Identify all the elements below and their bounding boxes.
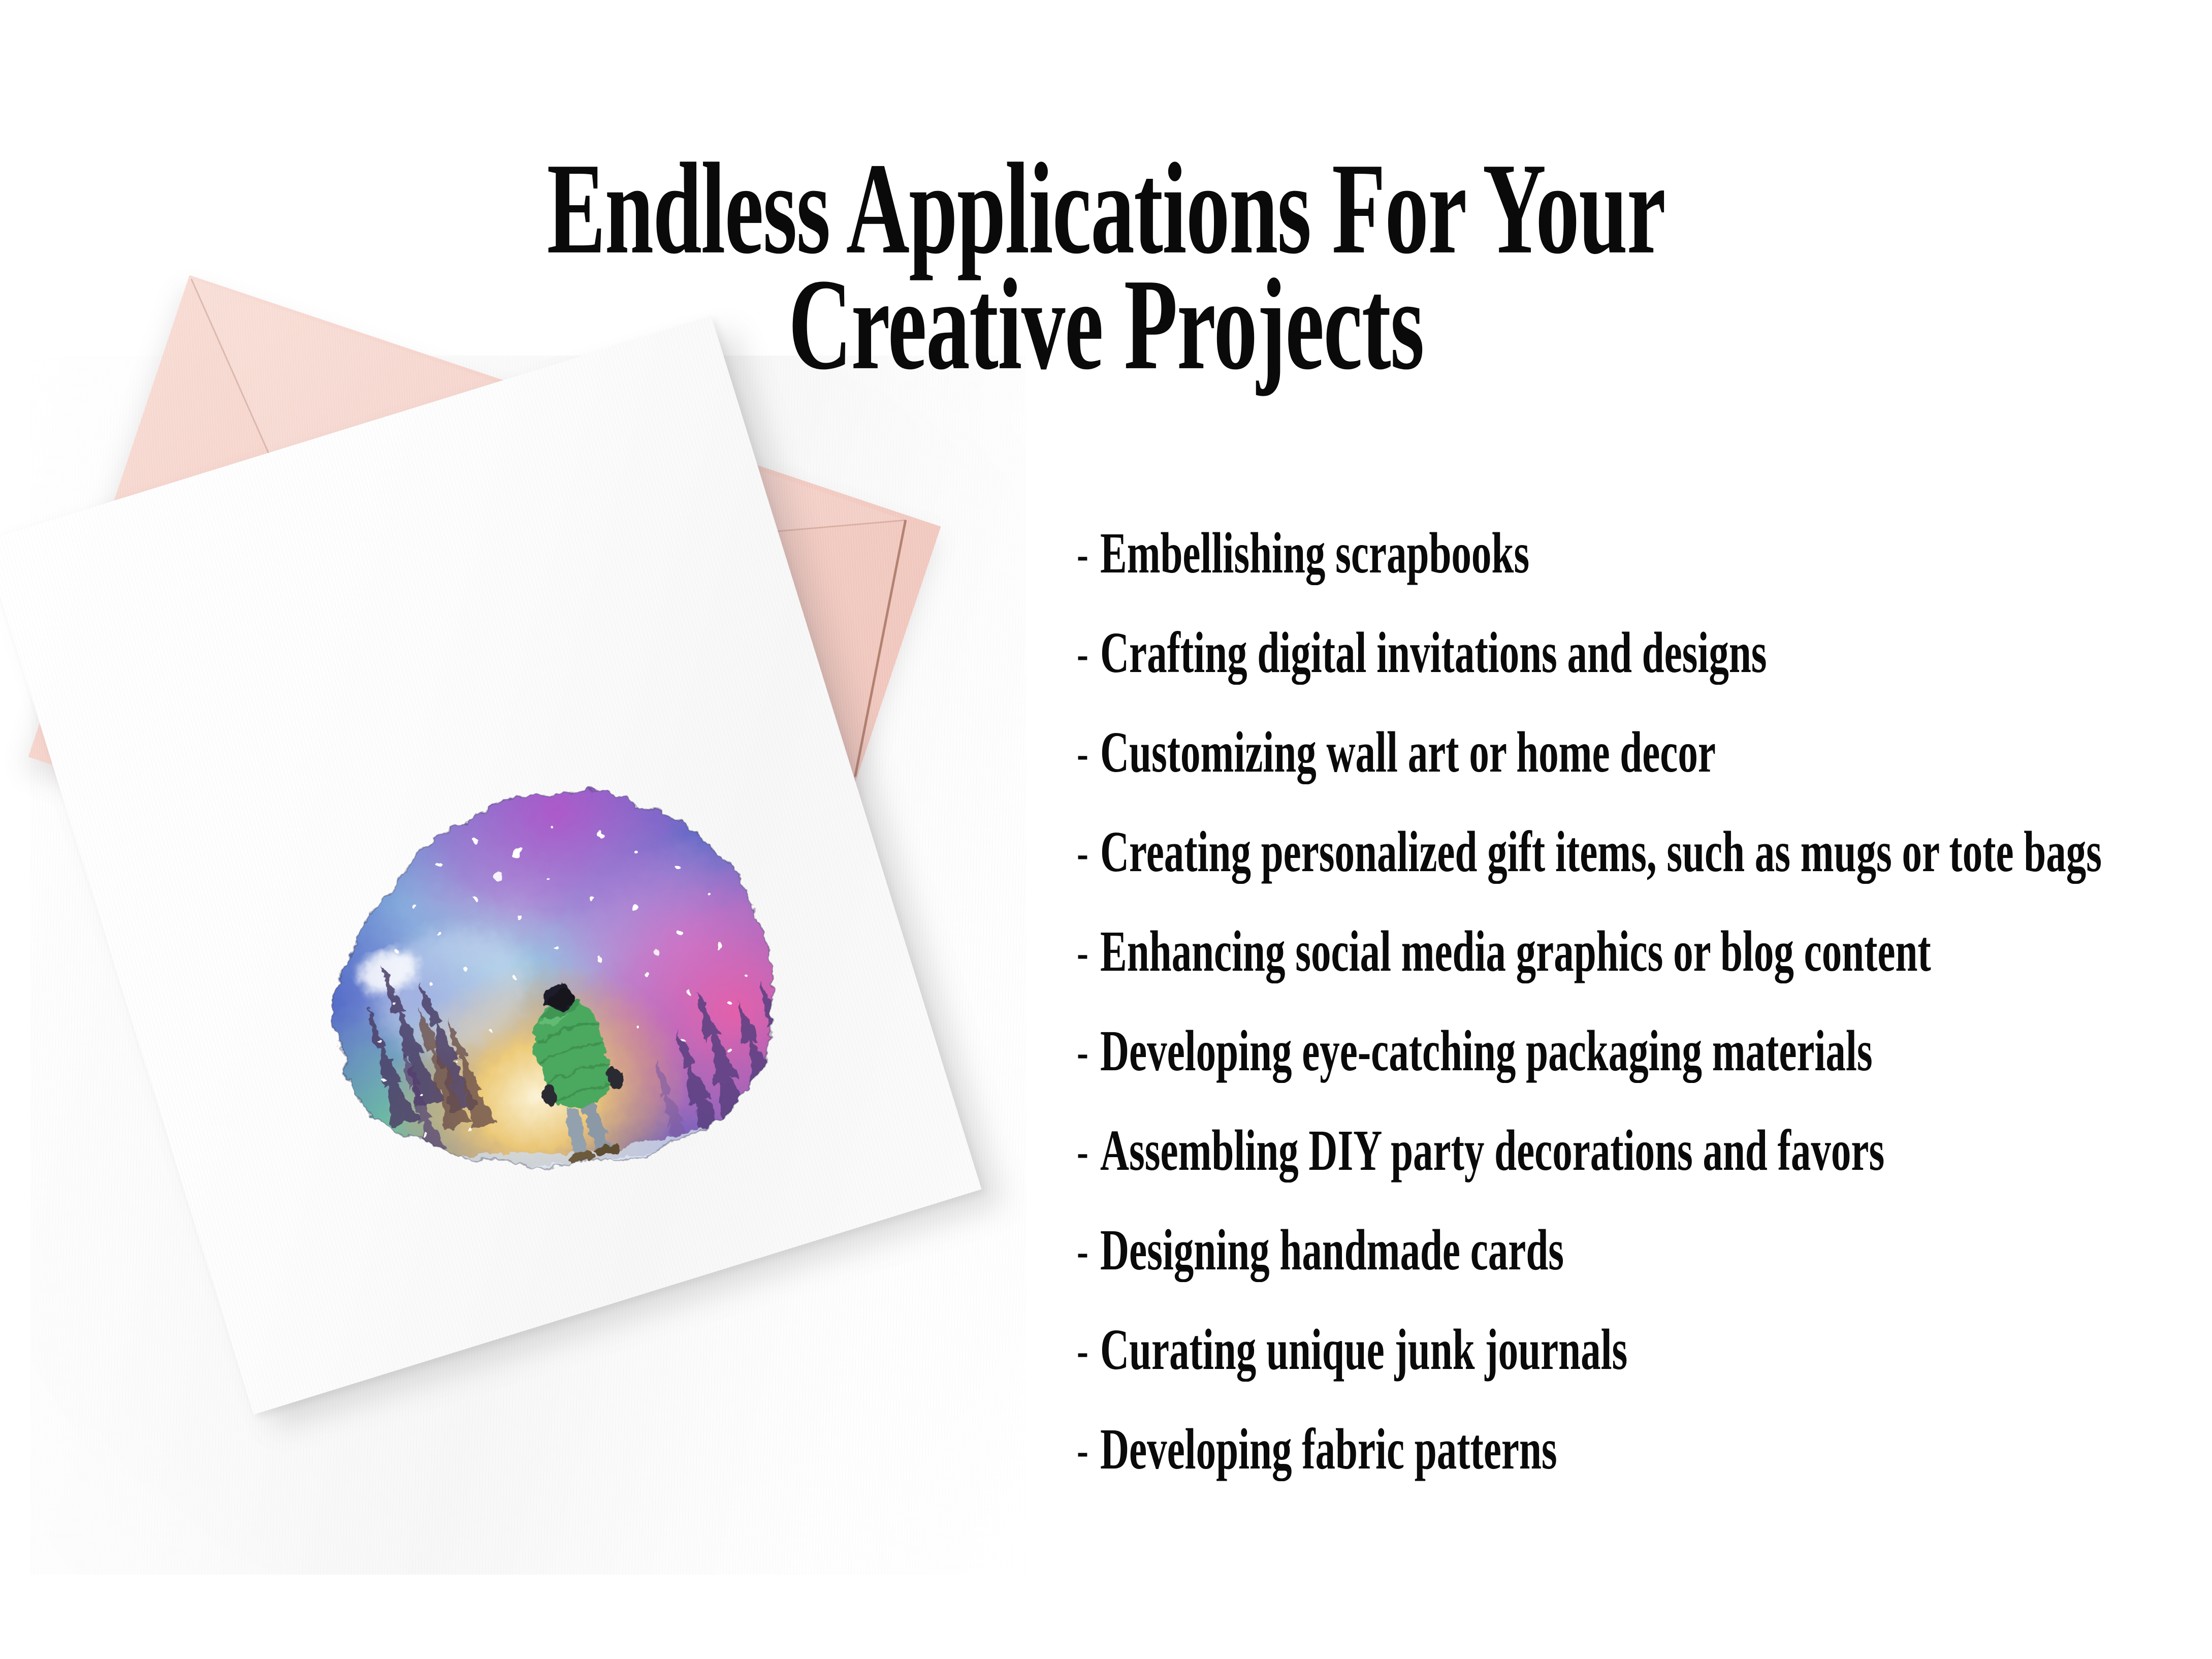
list-item: - Designing handmade cards — [1077, 1220, 2212, 1320]
list-item: - Crafting digital invitations and desig… — [1077, 623, 2212, 722]
list-item-label: Crafting digital invitations and designs — [1100, 623, 1767, 682]
list-item: - Customizing wall art or home decor — [1077, 722, 2212, 822]
list-item: - Embellishing scrapbooks — [1077, 523, 2212, 623]
bullet-dash-icon: - — [1077, 623, 1096, 676]
bullet-dash-icon: - — [1077, 1021, 1096, 1074]
applications-list: - Embellishing scrapbooks - Crafting dig… — [1077, 523, 2212, 1519]
bullet-dash-icon: - — [1077, 1121, 1096, 1173]
list-item-label: Developing eye-catching packaging materi… — [1100, 1021, 1873, 1080]
bullet-dash-icon: - — [1077, 822, 1096, 875]
list-item-label: Curating unique junk journals — [1100, 1320, 1627, 1379]
list-item: - Creating personalized gift items, such… — [1077, 822, 2212, 921]
title-line-2: Creative Projects — [243, 258, 1969, 392]
list-item: - Developing eye-catching packaging mate… — [1077, 1021, 2212, 1121]
list-item-label: Customizing wall art or home decor — [1100, 722, 1716, 781]
bullet-dash-icon: - — [1077, 1419, 1096, 1472]
bullet-dash-icon: - — [1077, 921, 1096, 974]
list-item: - Assembling DIY party decorations and f… — [1077, 1121, 2212, 1220]
bullet-dash-icon: - — [1077, 722, 1096, 775]
list-item-label: Enhancing social media graphics or blog … — [1100, 921, 1931, 980]
list-item-label: Developing fabric patterns — [1100, 1419, 1557, 1478]
bullet-dash-icon: - — [1077, 523, 1096, 576]
list-item: - Enhancing social media graphics or blo… — [1077, 921, 2212, 1021]
poster-canvas: Endless Applications For Your Creative P… — [0, 0, 2212, 1659]
list-item-label: Assembling DIY party decorations and fav… — [1100, 1121, 1884, 1179]
list-item-label: Designing handmade cards — [1100, 1220, 1564, 1279]
page-title: Endless Applications For Your Creative P… — [0, 142, 2212, 373]
list-item: - Developing fabric patterns — [1077, 1419, 2212, 1519]
list-item-label: Creating personalized gift items, such a… — [1100, 822, 2102, 881]
bullet-dash-icon: - — [1077, 1220, 1096, 1273]
list-item: - Curating unique junk journals — [1077, 1320, 2212, 1419]
bullet-dash-icon: - — [1077, 1320, 1096, 1373]
list-item-label: Embellishing scrapbooks — [1100, 523, 1529, 582]
greeting-card-mockup-photo — [30, 356, 1026, 1575]
